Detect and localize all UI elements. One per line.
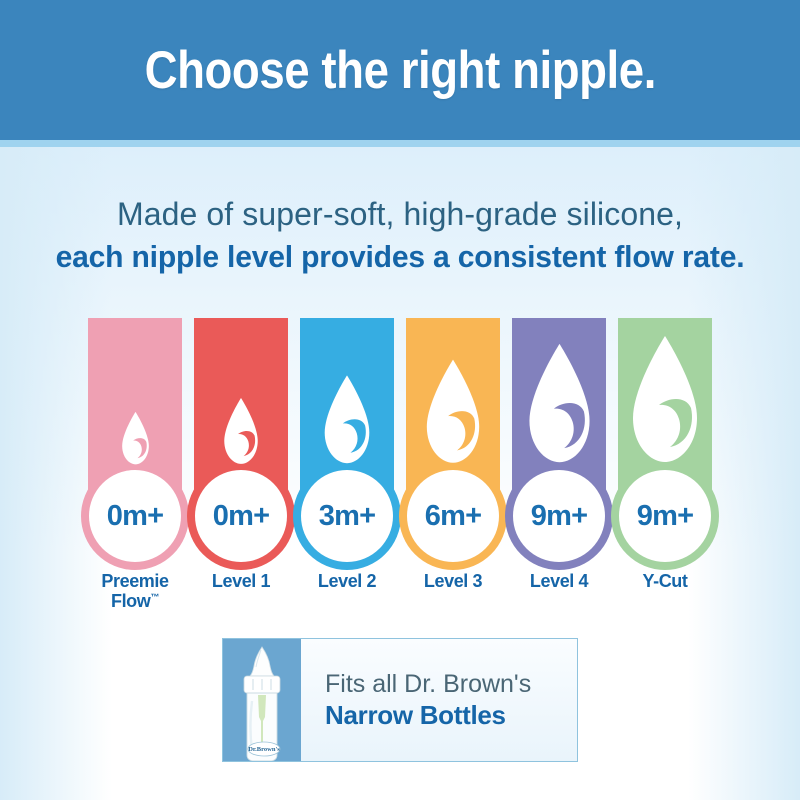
age-label: 0m+ [213, 502, 269, 531]
flow-droplet-icon [512, 318, 606, 468]
bottle-image-panel: Dr.Brown's [223, 639, 301, 761]
nipple-level-name-line1: Level 1 [212, 571, 270, 591]
nipple-level-card[interactable]: 0m+ [88, 318, 182, 568]
age-label: 9m+ [531, 502, 587, 531]
nipple-level-name-line1: Preemie [101, 571, 168, 591]
callout-line-2: Narrow Bottles [325, 700, 577, 731]
callout-text-block: Fits all Dr. Brown's Narrow Bottles [301, 639, 577, 761]
header-banner: Choose the right nipple. [0, 0, 800, 140]
nipple-level-card[interactable]: 6m+ [406, 318, 500, 568]
flow-droplet-icon [88, 318, 182, 468]
nipple-level-name: Level 4 [512, 571, 606, 627]
age-label: 0m+ [107, 502, 163, 531]
age-label: 3m+ [319, 502, 375, 531]
age-badge: 0m+ [195, 470, 287, 562]
age-label: 9m+ [637, 502, 693, 531]
trademark-symbol: ™ [150, 592, 159, 602]
age-badge: 0m+ [89, 470, 181, 562]
nipple-level-card[interactable]: 3m+ [300, 318, 394, 568]
nipple-level-name-line1: Level 4 [530, 571, 588, 591]
flow-droplet-icon [300, 318, 394, 468]
nipple-level-cards: 0m+0m+3m+6m+9m+9m+ [88, 318, 712, 568]
nipple-level-card[interactable]: 9m+ [618, 318, 712, 568]
nipple-level-name: Level 3 [406, 571, 500, 627]
flow-droplet-icon [406, 318, 500, 468]
dr-browns-narrow-bottle-icon: Dr.Brown's [231, 643, 293, 761]
age-badge: 6m+ [407, 470, 499, 562]
callout-line-1: Fits all Dr. Brown's [325, 669, 577, 700]
infographic-page: Choose the right nipple. Made of super-s… [0, 0, 800, 800]
age-label: 6m+ [425, 502, 481, 531]
fits-narrow-bottles-callout: Dr.Brown's Fits all Dr. Brown's Narrow B… [222, 638, 578, 762]
nipple-level-name: PreemieFlow™ [88, 571, 182, 627]
flow-droplet-icon [194, 318, 288, 468]
nipple-level-name-line2: Flow [111, 591, 150, 611]
age-badge: 9m+ [619, 470, 711, 562]
subtitle-line-2: each nipple level provides a consistent … [12, 238, 788, 275]
nipple-level-name: Level 1 [194, 571, 288, 627]
nipple-level-name-line1: Level 3 [424, 571, 482, 591]
nipple-level-name: Level 2 [300, 571, 394, 627]
flow-droplet-icon [618, 318, 712, 468]
nipple-level-name: Y-Cut [618, 571, 712, 627]
nipple-level-name-line1: Level 2 [318, 571, 376, 591]
page-title: Choose the right nipple. [144, 44, 655, 97]
nipple-level-labels: PreemieFlow™Level 1Level 2Level 3Level 4… [88, 571, 712, 627]
subtitle-block: Made of super-soft, high-grade silicone,… [0, 196, 800, 275]
age-badge: 3m+ [301, 470, 393, 562]
svg-text:Dr.Brown's: Dr.Brown's [248, 746, 280, 753]
age-badge: 9m+ [513, 470, 605, 562]
nipple-level-card[interactable]: 0m+ [194, 318, 288, 568]
nipple-level-name-line1: Y-Cut [643, 571, 688, 591]
nipple-level-card[interactable]: 9m+ [512, 318, 606, 568]
header-accent-rule [0, 140, 800, 147]
subtitle-line-1: Made of super-soft, high-grade silicone, [0, 196, 800, 234]
